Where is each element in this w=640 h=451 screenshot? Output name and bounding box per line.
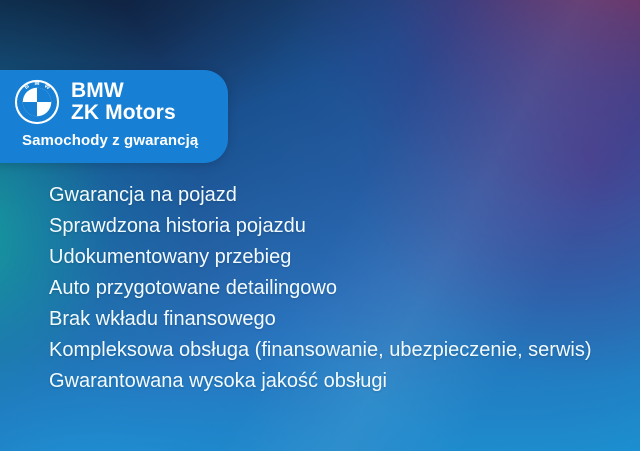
bmw-roundel-icon: B M W — [14, 79, 60, 125]
list-item: Auto przygotowane detailingowo — [49, 273, 592, 304]
brand-tagline: Samochody z gwarancją — [0, 125, 228, 149]
list-item: Kompleksowa obsługa (finansowanie, ubezp… — [49, 335, 592, 366]
promo-banner: B M W BMW ZK Motors Samochody z gwarancj… — [0, 0, 640, 451]
list-item: Brak wkładu finansowego — [49, 304, 592, 335]
brand-badge: B M W BMW ZK Motors Samochody z gwarancj… — [0, 70, 228, 163]
feature-list: Gwarancja na pojazd Sprawdzona historia … — [49, 180, 592, 397]
list-item: Udokumentowany przebieg — [49, 242, 592, 273]
svg-text:M: M — [35, 81, 40, 87]
list-item: Gwarancja na pojazd — [49, 180, 592, 211]
brand-line-primary: BMW — [71, 80, 176, 102]
brand-wordmark: BMW ZK Motors — [71, 80, 176, 124]
brand-line-secondary: ZK Motors — [71, 102, 176, 124]
list-item: Gwarantowana wysoka jakość obsługi — [49, 366, 592, 397]
list-item: Sprawdzona historia pojazdu — [49, 211, 592, 242]
